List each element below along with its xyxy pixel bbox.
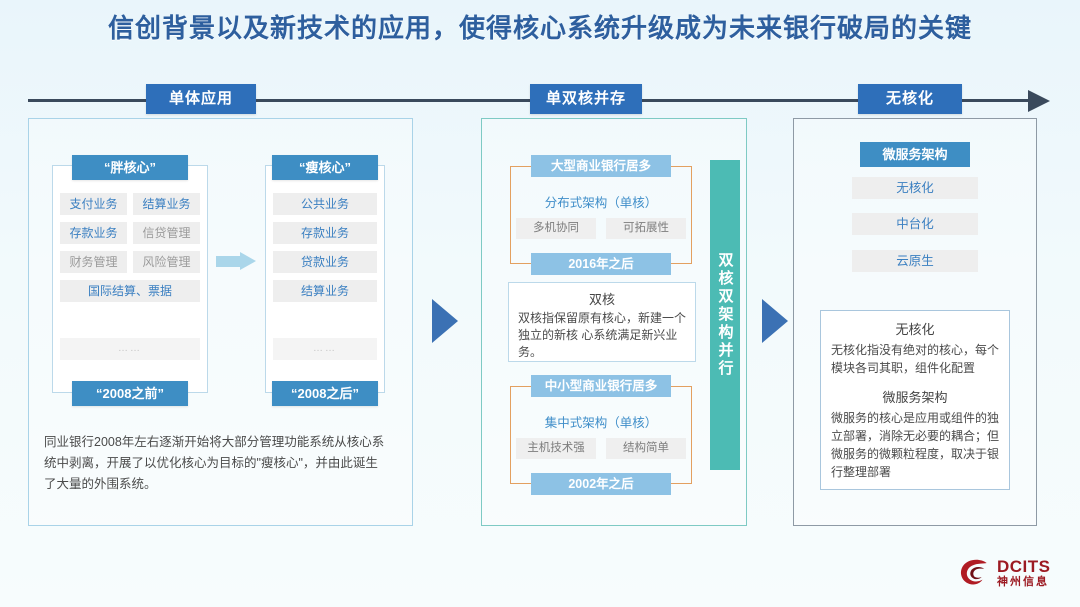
large-bank-era: 2016年之后 xyxy=(531,253,671,275)
microservice-body: 微服务的核心是应用或组件的独立部署，消除无必要的耦合；但微服务的微颗粒程度，取决… xyxy=(831,409,999,481)
arrow-shaft xyxy=(216,256,242,267)
small-bank-frame xyxy=(510,386,692,484)
pill-row: 公共业务 xyxy=(273,193,377,215)
large-bank-block: 大型商业银行居多 分布式架构（单核） 多机协同 可拓展性 2016年之后 xyxy=(510,166,692,264)
slide-root: 信创背景以及新技术的应用，使得核心系统升级成为未来银行破局的关键 单体应用 单双… xyxy=(0,0,1080,607)
fat-core-era: “2008之前” xyxy=(72,381,188,406)
pill-row: 国际结算、票据 xyxy=(60,280,200,302)
list-item[interactable]: 云原生 xyxy=(852,250,978,272)
timeline-arrow-icon xyxy=(1028,90,1050,112)
small-bank-subtitle: 集中式架构（单核） xyxy=(510,412,692,431)
dual-core-definition-card: 双核 双核指保留原有核心，新建一个独立的新核 心系统满足新兴业务。 xyxy=(508,282,696,362)
small-bank-tags: 主机技术强 结构简单 xyxy=(516,438,686,459)
thin-core-era: “2008之后” xyxy=(272,381,378,406)
large-bank-title: 大型商业银行居多 xyxy=(531,155,671,177)
small-bank-title: 中小型商业银行居多 xyxy=(531,375,671,397)
page-title: 信创背景以及新技术的应用，使得核心系统升级成为未来银行破局的关键 xyxy=(0,8,1080,45)
pill-row: 支付业务 结算业务 xyxy=(60,193,200,215)
dual-architecture-bar: 双核双架构并行 xyxy=(710,160,740,470)
list-item[interactable]: 贷款业务 xyxy=(273,251,377,273)
timeline-stage-1[interactable]: 单体应用 xyxy=(146,84,256,114)
stage-arrow-2-icon xyxy=(762,299,788,343)
pill-row: …… xyxy=(273,338,377,360)
logo-text: DCITS 神州信息 xyxy=(997,558,1051,588)
list-item-spacer xyxy=(60,309,200,331)
coreless-heading: 无核化 xyxy=(831,319,999,338)
microservice-heading: 微服务架构 xyxy=(831,387,999,406)
list-item[interactable]: 存款业务 xyxy=(273,222,377,244)
stage-arrow-1-icon xyxy=(432,299,458,343)
list-item[interactable]: 无核化 xyxy=(852,177,978,199)
coreless-body: 无核化指没有绝对的核心，每个模块各司其职，组件化配置 xyxy=(831,341,999,377)
tag[interactable]: 结构简单 xyxy=(606,438,686,459)
dual-core-heading: 双核 xyxy=(518,289,686,308)
dcits-swirl-icon xyxy=(958,558,992,588)
brand-logo: DCITS 神州信息 xyxy=(958,551,1070,595)
timeline-stage-3[interactable]: 无核化 xyxy=(858,84,962,114)
list-item[interactable]: 公共业务 xyxy=(273,193,377,215)
pill-row xyxy=(60,309,200,331)
pill-row: 财务管理 风险管理 xyxy=(60,251,200,273)
list-item[interactable]: 财务管理 xyxy=(60,251,127,273)
list-item-ellipsis: …… xyxy=(60,338,200,360)
list-item[interactable]: 信贷管理 xyxy=(133,222,200,244)
list-item[interactable]: 结算业务 xyxy=(273,280,377,302)
coreless-definition-card: 无核化 无核化指没有绝对的核心，每个模块各司其职，组件化配置 微服务架构 微服务… xyxy=(820,310,1010,490)
timeline: 单体应用 单双核并存 无核化 xyxy=(28,88,1052,112)
list-item[interactable]: 支付业务 xyxy=(60,193,127,215)
tag[interactable]: 多机协同 xyxy=(516,218,596,239)
dual-core-body: 双核指保留原有核心，新建一个独立的新核 心系统满足新兴业务。 xyxy=(518,310,686,361)
pill-row: 结算业务 xyxy=(273,280,377,302)
pill-row xyxy=(273,309,377,331)
list-item-spacer xyxy=(273,309,377,331)
arrow-head xyxy=(240,252,256,270)
fat-core-items: 支付业务 结算业务 存款业务 信贷管理 财务管理 风险管理 国际结算、票据 …… xyxy=(60,193,200,367)
large-bank-frame xyxy=(510,166,692,264)
thin-core-title: “瘦核心” xyxy=(272,155,378,180)
fat-core-title: “胖核心” xyxy=(72,155,188,180)
pill-row: …… xyxy=(60,338,200,360)
list-item[interactable]: 存款业务 xyxy=(60,222,127,244)
small-bank-era: 2002年之后 xyxy=(531,473,671,495)
microservice-title: 微服务架构 xyxy=(860,142,970,167)
thin-core-items: 公共业务 存款业务 贷款业务 结算业务 …… xyxy=(273,193,377,367)
list-item-ellipsis: …… xyxy=(273,338,377,360)
tag[interactable]: 可拓展性 xyxy=(606,218,686,239)
tag[interactable]: 主机技术强 xyxy=(516,438,596,459)
list-item[interactable]: 国际结算、票据 xyxy=(60,280,200,302)
large-bank-subtitle: 分布式架构（单核） xyxy=(510,192,692,211)
pill-row: 贷款业务 xyxy=(273,251,377,273)
timeline-stage-2[interactable]: 单双核并存 xyxy=(530,84,642,114)
large-bank-tags: 多机协同 可拓展性 xyxy=(516,218,686,239)
list-item[interactable]: 结算业务 xyxy=(133,193,200,215)
pill-row: 存款业务 xyxy=(273,222,377,244)
small-bank-block: 中小型商业银行居多 集中式架构（单核） 主机技术强 结构简单 2002年之后 xyxy=(510,386,692,484)
logo-en: DCITS xyxy=(997,558,1051,575)
list-item[interactable]: 中台化 xyxy=(852,213,978,235)
list-item[interactable]: 风险管理 xyxy=(133,251,200,273)
logo-cn: 神州信息 xyxy=(997,577,1051,588)
pill-row: 存款业务 信贷管理 xyxy=(60,222,200,244)
panel-monolithic-note: 同业银行2008年左右逐渐开始将大部分管理功能系统从核心系统中剥离，开展了以优化… xyxy=(44,432,388,495)
transition-arrow-icon xyxy=(216,252,258,270)
